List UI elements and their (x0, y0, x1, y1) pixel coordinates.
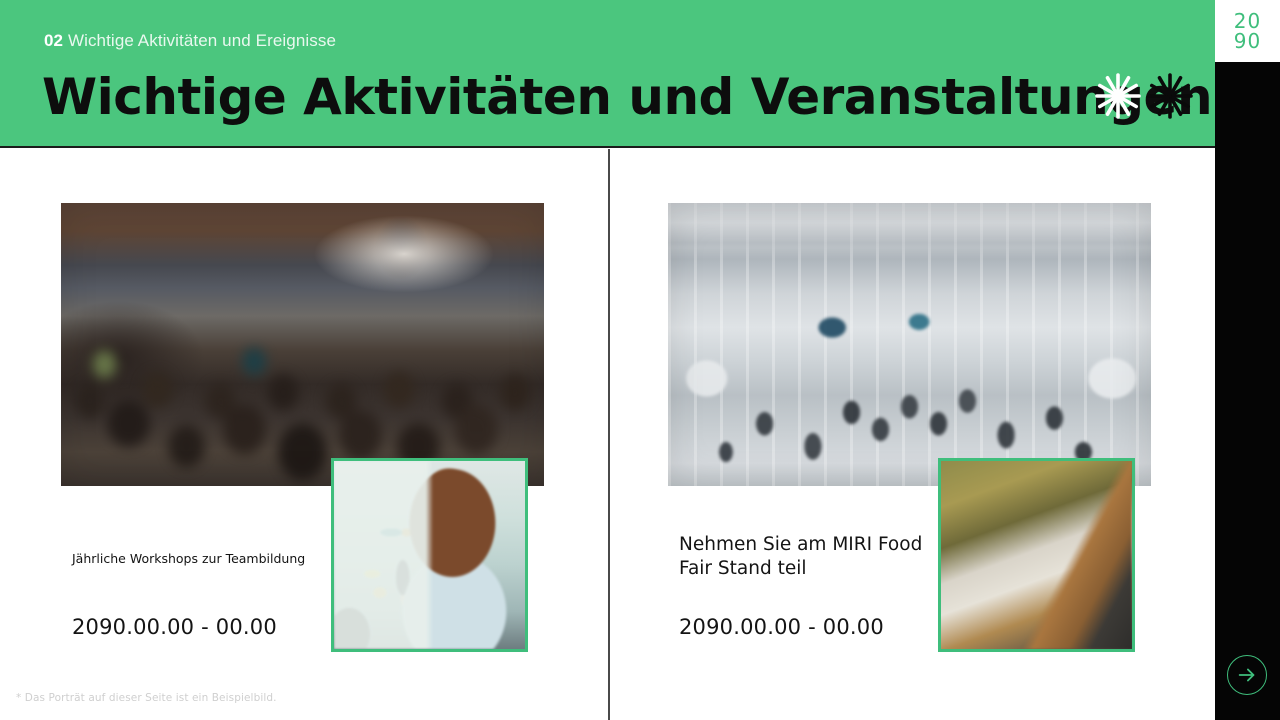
next-slide-button[interactable] (1227, 655, 1267, 695)
hero-image-conference (61, 203, 544, 486)
section-eyebrow: 02 Wichtige Aktivitäten und Ereignisse (44, 31, 336, 51)
right-sidebar-rail (1215, 0, 1280, 720)
asterisk-star-black-icon (1146, 72, 1194, 120)
inset-image-speaker (331, 458, 528, 652)
activity-caption-right: Nehmen Sie am MIRI Food Fair Stand teil (679, 533, 949, 580)
slide-root: 02 Wichtige Aktivitäten und Ereignisse W… (0, 0, 1280, 720)
section-number: 02 (44, 31, 63, 50)
page-title: Wichtige Aktivitäten und Veranstaltungen (42, 68, 1212, 126)
decorative-stars (1094, 72, 1194, 120)
inset-image-food (938, 458, 1135, 652)
activity-date-left: 2090.00.00 - 00.00 (72, 615, 277, 639)
content-column-right: Nehmen Sie am MIRI Food Fair Stand teil … (610, 149, 1215, 720)
slide-header: 02 Wichtige Aktivitäten und Ereignisse W… (0, 0, 1215, 148)
content-column-left: Jährliche Workshops zur Teambildung 2090… (0, 149, 608, 720)
asterisk-star-white-icon (1094, 72, 1142, 120)
hero-image-expo (668, 203, 1151, 486)
year-badge: 20 90 (1215, 0, 1280, 62)
arrow-right-icon (1236, 664, 1258, 686)
year-badge-bottom: 90 (1234, 31, 1261, 51)
activity-date-right: 2090.00.00 - 00.00 (679, 615, 884, 639)
section-label: Wichtige Aktivitäten und Ereignisse (68, 31, 336, 50)
year-badge-top: 20 (1234, 11, 1261, 31)
disclaimer-footnote: * Das Porträt auf dieser Seite ist ein B… (16, 692, 277, 704)
activity-caption-left: Jährliche Workshops zur Teambildung (72, 550, 352, 568)
